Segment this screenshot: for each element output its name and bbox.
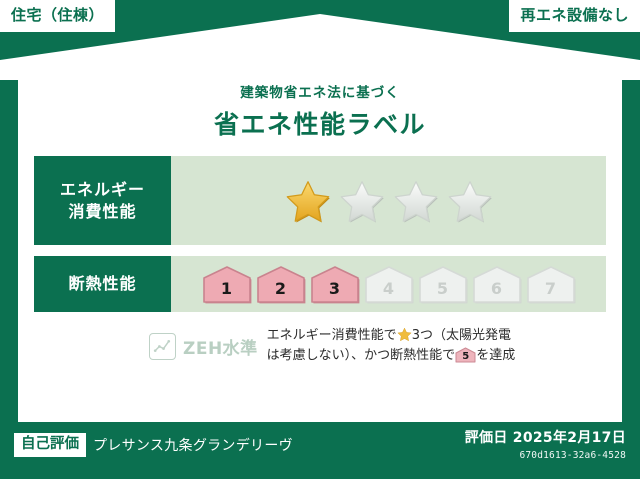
zeh-desc-part1: エネルギー消費性能で <box>267 328 397 343</box>
footer-right: 評価日 2025年2月17日 670d1613-32a6-4528 <box>465 430 626 461</box>
footer-left: 自己評価 プレサンス九条グランデリーヴ <box>14 433 293 457</box>
row-insulation-label-line1: 断熱性能 <box>68 273 136 295</box>
row-insulation: 断熱性能 1234567 <box>34 256 606 312</box>
grade-chip-value: 1 <box>201 281 253 297</box>
zeh-standard-indicator: ZEH水準 <box>149 333 258 360</box>
grade-chip-empty: 4 <box>363 264 415 304</box>
zeh-label: ZEH水準 <box>183 334 258 359</box>
grade-chip-filled: 1 <box>201 264 253 304</box>
badge-self-evaluation: 自己評価 <box>14 433 86 457</box>
row-energy-label-line2: 消費性能 <box>68 201 136 223</box>
zeh-description: エネルギー消費性能で3つ（太陽光発電は考慮しない）、かつ断熱性能で5を達成 <box>267 326 516 366</box>
zeh-desc-part2: 3つ（太陽光発電 <box>412 328 511 343</box>
grade-chip-empty: 7 <box>525 264 577 304</box>
rating-rows: エネルギー 消費性能 断熱性能 1234567 <box>34 156 606 312</box>
grade-chip-value: 6 <box>471 281 523 297</box>
grade-chip-empty: 6 <box>471 264 523 304</box>
page-title: 省エネ性能ラベル <box>18 105 622 141</box>
evaluation-date: 評価日 2025年2月17日 <box>465 430 626 448</box>
star-icon-empty <box>447 179 493 223</box>
footer: 自己評価 プレサンス九条グランデリーヴ 評価日 2025年2月17日 670d1… <box>0 422 640 479</box>
grade-chip-filled: 3 <box>309 264 361 304</box>
title-block: 建築物省エネ法に基づく 省エネ性能ラベル <box>18 77 622 141</box>
zeh-desc-part4: を達成 <box>476 348 515 363</box>
label-card: 建築物省エネ法に基づく 省エネ性能ラベル エネルギー 消費性能 断熱性能 123… <box>18 77 622 422</box>
star-icon-filled <box>285 179 331 223</box>
document-id: 670d1613-32a6-4528 <box>465 450 626 461</box>
badge-renewable-energy: 再エネ設備なし <box>509 0 640 32</box>
row-energy-label: エネルギー 消費性能 <box>34 156 171 245</box>
row-energy-consumption: エネルギー 消費性能 <box>34 156 606 245</box>
star-icon-empty <box>393 179 439 223</box>
insulation-grade-scale: 1234567 <box>171 256 606 312</box>
grade-chip-filled: 2 <box>255 264 307 304</box>
grade-chip-value: 2 <box>255 281 307 297</box>
grade-chip-value: 4 <box>363 281 415 297</box>
inline-grade-value: 5 <box>455 352 476 362</box>
star-rating <box>171 156 606 245</box>
star-icon-empty <box>339 179 385 223</box>
badge-building-type: 住宅（住棟） <box>0 0 115 32</box>
row-energy-label-line1: エネルギー <box>60 179 145 201</box>
zeh-note: ZEH水準 エネルギー消費性能で3つ（太陽光発電は考慮しない）、かつ断熱性能で5… <box>18 326 622 366</box>
zeh-chart-icon <box>149 333 176 360</box>
title-subtitle: 建築物省エネ法に基づく <box>18 81 622 101</box>
grade-chip-value: 5 <box>417 281 469 297</box>
grade-chip-empty: 5 <box>417 264 469 304</box>
grade-chip-value: 7 <box>525 281 577 297</box>
inline-grade-chip: 5 <box>455 347 476 363</box>
zeh-desc-part3: は考慮しない）、かつ断熱性能で <box>267 348 456 363</box>
row-insulation-label: 断熱性能 <box>34 256 171 312</box>
inline-star-icon <box>397 327 412 342</box>
grade-chip-value: 3 <box>309 281 361 297</box>
building-name: プレサンス九条グランデリーヴ <box>93 435 293 455</box>
